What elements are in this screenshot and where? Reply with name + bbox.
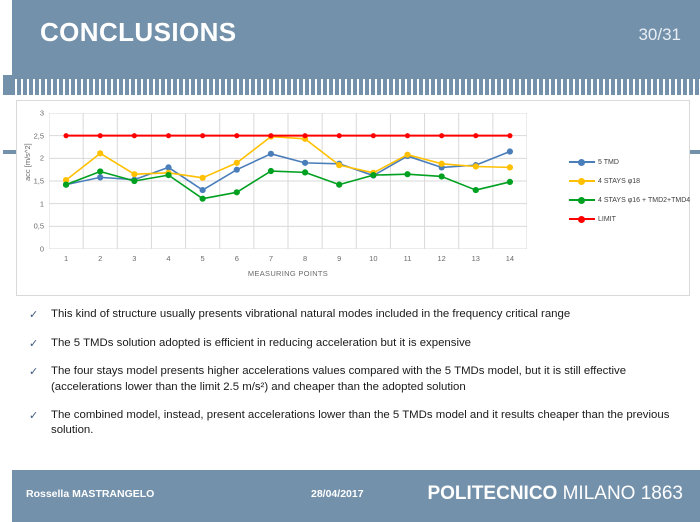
chart-data-point xyxy=(132,133,137,138)
chart-data-point xyxy=(302,160,308,166)
chart-data-point xyxy=(97,168,103,174)
legend-item[interactable]: 4 STAYS φ18 xyxy=(569,176,690,186)
chart-data-point xyxy=(200,133,205,138)
chart-data-point xyxy=(165,164,171,170)
legend-item-label: 5 TMD xyxy=(598,159,619,166)
chart-data-point xyxy=(166,133,171,138)
chart-x-tick-label: 9 xyxy=(337,254,341,263)
header-left-accent xyxy=(3,0,12,75)
chart-data-point xyxy=(234,133,239,138)
footer-author: Rossella MASTRANGELO xyxy=(26,488,154,500)
chart-data-point xyxy=(200,196,206,202)
chart-data-point xyxy=(131,171,137,177)
footer-brand-rest: MILANO 1863 xyxy=(557,483,683,504)
chart-data-point xyxy=(234,167,240,173)
legend-marker-icon xyxy=(569,214,595,224)
chart-x-tick-label: 14 xyxy=(506,254,514,263)
chart-data-point xyxy=(268,151,274,157)
chart-y-tick-label: 0 xyxy=(40,245,44,254)
legend-marker-icon xyxy=(569,176,595,186)
page-title: CONCLUSIONS xyxy=(40,17,237,48)
chart-y-tick-label: 0,5 xyxy=(34,222,44,231)
chart-data-point xyxy=(507,133,512,138)
chart-data-point xyxy=(98,133,103,138)
chart-data-point xyxy=(473,187,479,193)
legend-item[interactable]: 4 STAYS φ16 + TMD2+TMD4 xyxy=(569,195,690,205)
legend-item-label: 4 STAYS φ18 xyxy=(598,178,640,185)
chart-data-point xyxy=(336,162,342,168)
chart-data-point xyxy=(97,150,103,156)
chart-data-point xyxy=(336,182,342,188)
chart-y-tick-label: 2 xyxy=(40,154,44,163)
chart-data-point xyxy=(200,175,206,181)
footer-date: 28/04/2017 xyxy=(311,488,364,500)
checkmark-icon: ✓ xyxy=(29,336,51,352)
legend-marker-icon xyxy=(569,195,595,205)
checkmark-icon: ✓ xyxy=(29,364,51,395)
list-item: ✓The combined model, instead, present ac… xyxy=(29,408,689,439)
legend-marker-icon xyxy=(569,157,595,167)
chart-x-tick-label: 10 xyxy=(369,254,377,263)
chart-data-point xyxy=(302,169,308,175)
list-item-text: The 5 TMDs solution adopted is efficient… xyxy=(51,336,689,352)
chart-data-point xyxy=(473,163,479,169)
chart-x-axis-label: MEASURING POINTS xyxy=(49,269,527,278)
chart-data-point xyxy=(405,133,410,138)
chart-data-point xyxy=(200,187,206,193)
chart-data-point xyxy=(370,172,376,178)
list-item: ✓The 5 TMDs solution adopted is efficien… xyxy=(29,336,689,352)
chart-x-tick-label: 6 xyxy=(235,254,239,263)
conclusions-list: ✓This kind of structure usually presents… xyxy=(29,307,689,452)
chart-container: acc [m/s^2] 00,511,522,53123456789101112… xyxy=(16,100,690,296)
chart-data-point xyxy=(97,174,103,180)
chart-svg xyxy=(49,113,527,249)
chart-plot-area: 00,511,522,531234567891011121314 xyxy=(49,113,527,249)
chart-data-point xyxy=(63,182,69,188)
chart-data-point xyxy=(404,152,410,158)
legend-item[interactable]: 5 TMD xyxy=(569,157,690,167)
slide-footer: Rossella MASTRANGELO 28/04/2017 POLITECN… xyxy=(3,470,700,522)
chart-y-axis-label: acc [m/s^2] xyxy=(23,143,32,181)
checkmark-icon: ✓ xyxy=(29,307,51,323)
list-item-text: The four stays model presents higher acc… xyxy=(51,364,689,395)
chart-data-point xyxy=(337,133,342,138)
chart-data-point xyxy=(234,160,240,166)
chart-y-tick-label: 2,5 xyxy=(34,131,44,140)
chart-data-point xyxy=(439,161,445,167)
chart-data-point xyxy=(439,173,445,179)
chart-x-tick-label: 7 xyxy=(269,254,273,263)
footer-left-accent xyxy=(3,470,12,522)
footer-brand-bold: POLITECNICO xyxy=(427,483,557,504)
footer-brand: POLITECNICO MILANO 1863 xyxy=(427,483,683,505)
chart-data-point xyxy=(439,133,444,138)
chart-x-tick-label: 3 xyxy=(132,254,136,263)
chart-x-tick-label: 13 xyxy=(472,254,480,263)
tick-band-left-edge xyxy=(3,75,12,95)
chart-x-tick-label: 5 xyxy=(201,254,205,263)
chart-y-tick-label: 1 xyxy=(40,199,44,208)
legend-item-label: LIMIT xyxy=(598,216,616,223)
chart-x-tick-label: 12 xyxy=(437,254,445,263)
chart-data-point xyxy=(404,171,410,177)
list-item-text: The combined model, instead, present acc… xyxy=(51,408,689,439)
presentation-slide: CONCLUSIONS 30/31 acc [m/s^2] 00,511,522… xyxy=(0,0,700,522)
chart-legend: 5 TMD4 STAYS φ184 STAYS φ16 + TMD2+TMD4L… xyxy=(569,157,690,224)
chart-data-point xyxy=(165,172,171,178)
legend-item[interactable]: LIMIT xyxy=(569,214,690,224)
chart-data-point xyxy=(507,164,513,170)
chart-data-point xyxy=(234,189,240,195)
chart-data-point xyxy=(268,168,274,174)
chart-x-tick-label: 1 xyxy=(64,254,68,263)
chart-y-tick-label: 1,5 xyxy=(34,177,44,186)
chart-data-point xyxy=(507,179,513,185)
chart-data-point xyxy=(473,133,478,138)
chart-data-point xyxy=(63,133,68,138)
checkmark-icon: ✓ xyxy=(29,408,51,439)
decorative-tick-band xyxy=(3,75,700,95)
chart-x-tick-label: 2 xyxy=(98,254,102,263)
list-item-text: This kind of structure usually presents … xyxy=(51,307,689,323)
chart-data-point xyxy=(302,133,307,138)
slide-header: CONCLUSIONS 30/31 xyxy=(3,0,700,75)
slide-number: 30/31 xyxy=(638,25,681,45)
chart-data-point xyxy=(371,133,376,138)
list-item: ✓The four stays model presents higher ac… xyxy=(29,364,689,395)
chart-y-tick-label: 3 xyxy=(40,109,44,118)
chart-x-tick-label: 4 xyxy=(166,254,170,263)
list-item: ✓This kind of structure usually presents… xyxy=(29,307,689,323)
chart-data-point xyxy=(507,148,513,154)
chart-x-tick-label: 11 xyxy=(404,254,412,263)
chart-x-tick-label: 8 xyxy=(303,254,307,263)
chart-data-point xyxy=(131,178,137,184)
legend-item-label: 4 STAYS φ16 + TMD2+TMD4 xyxy=(598,197,690,204)
chart-data-point xyxy=(268,133,273,138)
